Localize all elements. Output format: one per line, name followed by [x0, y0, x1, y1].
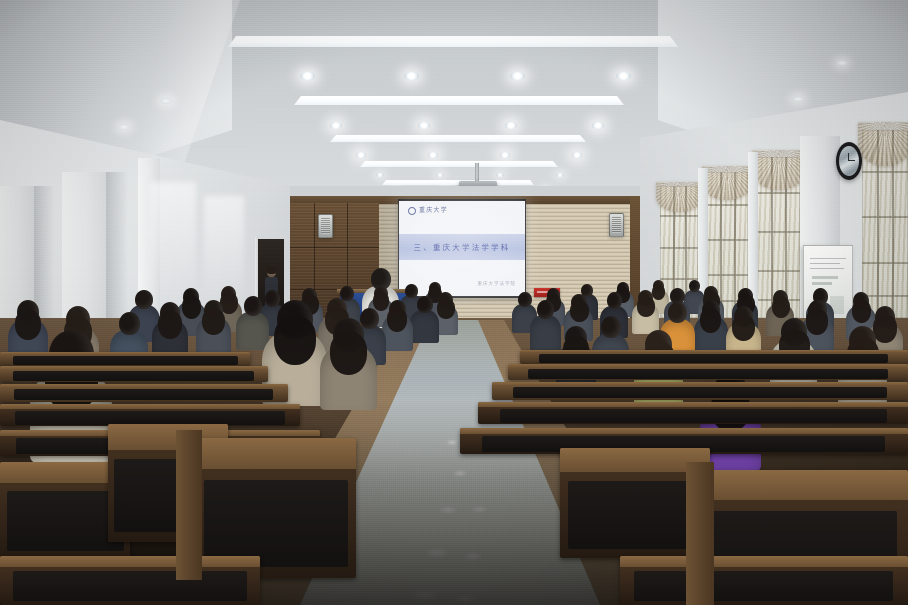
ceiling-light-strip	[382, 180, 534, 185]
bench-cushion	[13, 571, 247, 601]
attendee-denim-head	[119, 312, 140, 335]
bench-row-right-mid-1	[508, 364, 908, 380]
floor-light-reflection	[462, 552, 484, 561]
ceiling-spotlight	[505, 122, 517, 129]
bench-top-rail	[478, 402, 908, 407]
ceiling-spotlight	[418, 122, 430, 129]
bench-top-rail	[0, 384, 288, 388]
bench-top-rail	[492, 382, 908, 386]
standing-person-hair	[266, 267, 277, 274]
ceiling-spotlight	[572, 152, 582, 158]
attendee-hair-long	[732, 315, 755, 341]
attendee-head	[601, 316, 621, 338]
projection-screen: 重庆大学 三、重庆大学法学学科 重庆大学法学院	[399, 201, 525, 296]
bench-top-rail	[0, 366, 268, 370]
bench-top-rail	[520, 350, 908, 353]
loudspeaker-icon-left	[318, 214, 333, 238]
attendee-orange-head	[668, 302, 687, 323]
bench-cushion	[513, 387, 887, 398]
bench-row-left-mid-1	[0, 366, 268, 382]
bench-row-left-mid-2	[0, 384, 288, 402]
ceiling-spotlight	[500, 152, 510, 158]
cove-downlight	[160, 98, 172, 104]
projector-mount	[475, 163, 479, 183]
bench-cushion	[204, 480, 348, 567]
bench-top-rail	[508, 364, 908, 368]
attendee-hair-long	[700, 308, 721, 333]
bench-top-rail	[700, 470, 908, 500]
attendee-hair-long	[387, 308, 407, 332]
ceiling-light-strip	[330, 135, 586, 142]
attendee-head	[607, 292, 622, 309]
attendee-hair-long	[202, 309, 225, 335]
bench-cushion	[14, 389, 273, 400]
bench-top-rail	[620, 556, 908, 567]
bench-row-right-mid-2	[492, 382, 908, 400]
ceiling-light-strip	[294, 96, 624, 105]
bench-top-rail	[460, 428, 908, 434]
bench-cushion	[500, 409, 887, 423]
bench-cushion	[539, 354, 888, 363]
attendee-head	[244, 296, 262, 316]
attendee	[382, 300, 413, 355]
logo-mark-icon	[408, 207, 416, 215]
slide-logo-text: 重庆大学	[419, 207, 448, 215]
attendee-hair-long	[570, 301, 589, 322]
bench-row-left-front-0	[0, 404, 300, 426]
wall-clock	[836, 142, 862, 180]
attendee-hair-long	[437, 299, 455, 319]
attendee-foreground-center-hair-long	[274, 316, 316, 365]
bench-row-right-front-0	[478, 402, 908, 424]
lecture-hall-photo: 重庆大学 三、重庆大学法学学科 重庆大学法学院	[0, 0, 908, 605]
floor-light-reflection	[452, 594, 478, 604]
bench-top-rail	[0, 404, 300, 409]
cove-downlight	[792, 96, 804, 102]
attendee-hair-long	[158, 311, 182, 339]
wall-clock-minute-hand	[848, 160, 855, 161]
fan valance-2	[702, 166, 752, 200]
bench-cushion	[13, 356, 238, 365]
floor-light-reflection	[410, 590, 440, 601]
slide-title-band: 三、重庆大学法学学科	[399, 234, 525, 260]
attendee-head	[537, 300, 554, 319]
bench-armrest-left	[176, 430, 202, 580]
bench-cushion	[568, 481, 703, 549]
attendee-hair-long	[637, 297, 655, 317]
bench-cushion	[634, 571, 893, 601]
floor-light-reflection	[438, 506, 458, 514]
slide-title-text: 三、重庆大学法学学科	[399, 242, 525, 253]
bench-cushion	[7, 491, 124, 551]
attendee-torso	[410, 310, 439, 343]
attendee-hair-long	[772, 297, 790, 318]
floor-light-reflection	[424, 548, 450, 558]
bench-back-right-2	[620, 556, 908, 605]
ceiling-light-strip	[228, 36, 678, 47]
attendee-foreground-center-2-hair-long	[330, 332, 367, 375]
bench-row-right-mid-0	[520, 350, 908, 364]
ceiling-spotlight	[428, 152, 438, 158]
loudspeaker-icon-right	[609, 213, 624, 237]
left-wall-light-wash	[150, 182, 196, 302]
attendee-head	[417, 296, 433, 313]
bench-cushion	[13, 371, 254, 381]
bench-row-left-mid-0	[0, 352, 250, 366]
floor-light-reflection	[452, 470, 468, 477]
cove-downlight	[836, 60, 848, 66]
bench-top-rail	[0, 556, 260, 567]
bench-top-rail	[196, 438, 356, 469]
slide-university-logo: 重庆大学	[408, 207, 456, 215]
wall-clock-face	[839, 146, 859, 176]
fan valance-3	[752, 150, 806, 190]
bench-armrest-right	[686, 462, 714, 605]
fan valance-4	[858, 122, 908, 166]
attendee	[410, 296, 439, 346]
ceiling-spotlight	[592, 122, 604, 129]
bench-cushion	[15, 411, 285, 425]
ceiling-spotlight	[330, 122, 342, 129]
floor-light-reflection	[470, 506, 488, 513]
bench-cushion	[528, 369, 888, 379]
floor-light-reflection	[446, 440, 458, 445]
cove-downlight	[118, 124, 130, 130]
bench-back-left-3	[0, 556, 260, 605]
ceiling-light-strip	[360, 161, 558, 167]
ceiling-spotlight	[356, 152, 366, 158]
slide-footer-text: 重庆大学法学院	[478, 281, 517, 287]
attendee-foreground-center-2	[320, 318, 377, 417]
attendee-head	[135, 290, 153, 309]
bench-top-rail	[0, 352, 250, 355]
fan valance-1	[656, 182, 702, 212]
